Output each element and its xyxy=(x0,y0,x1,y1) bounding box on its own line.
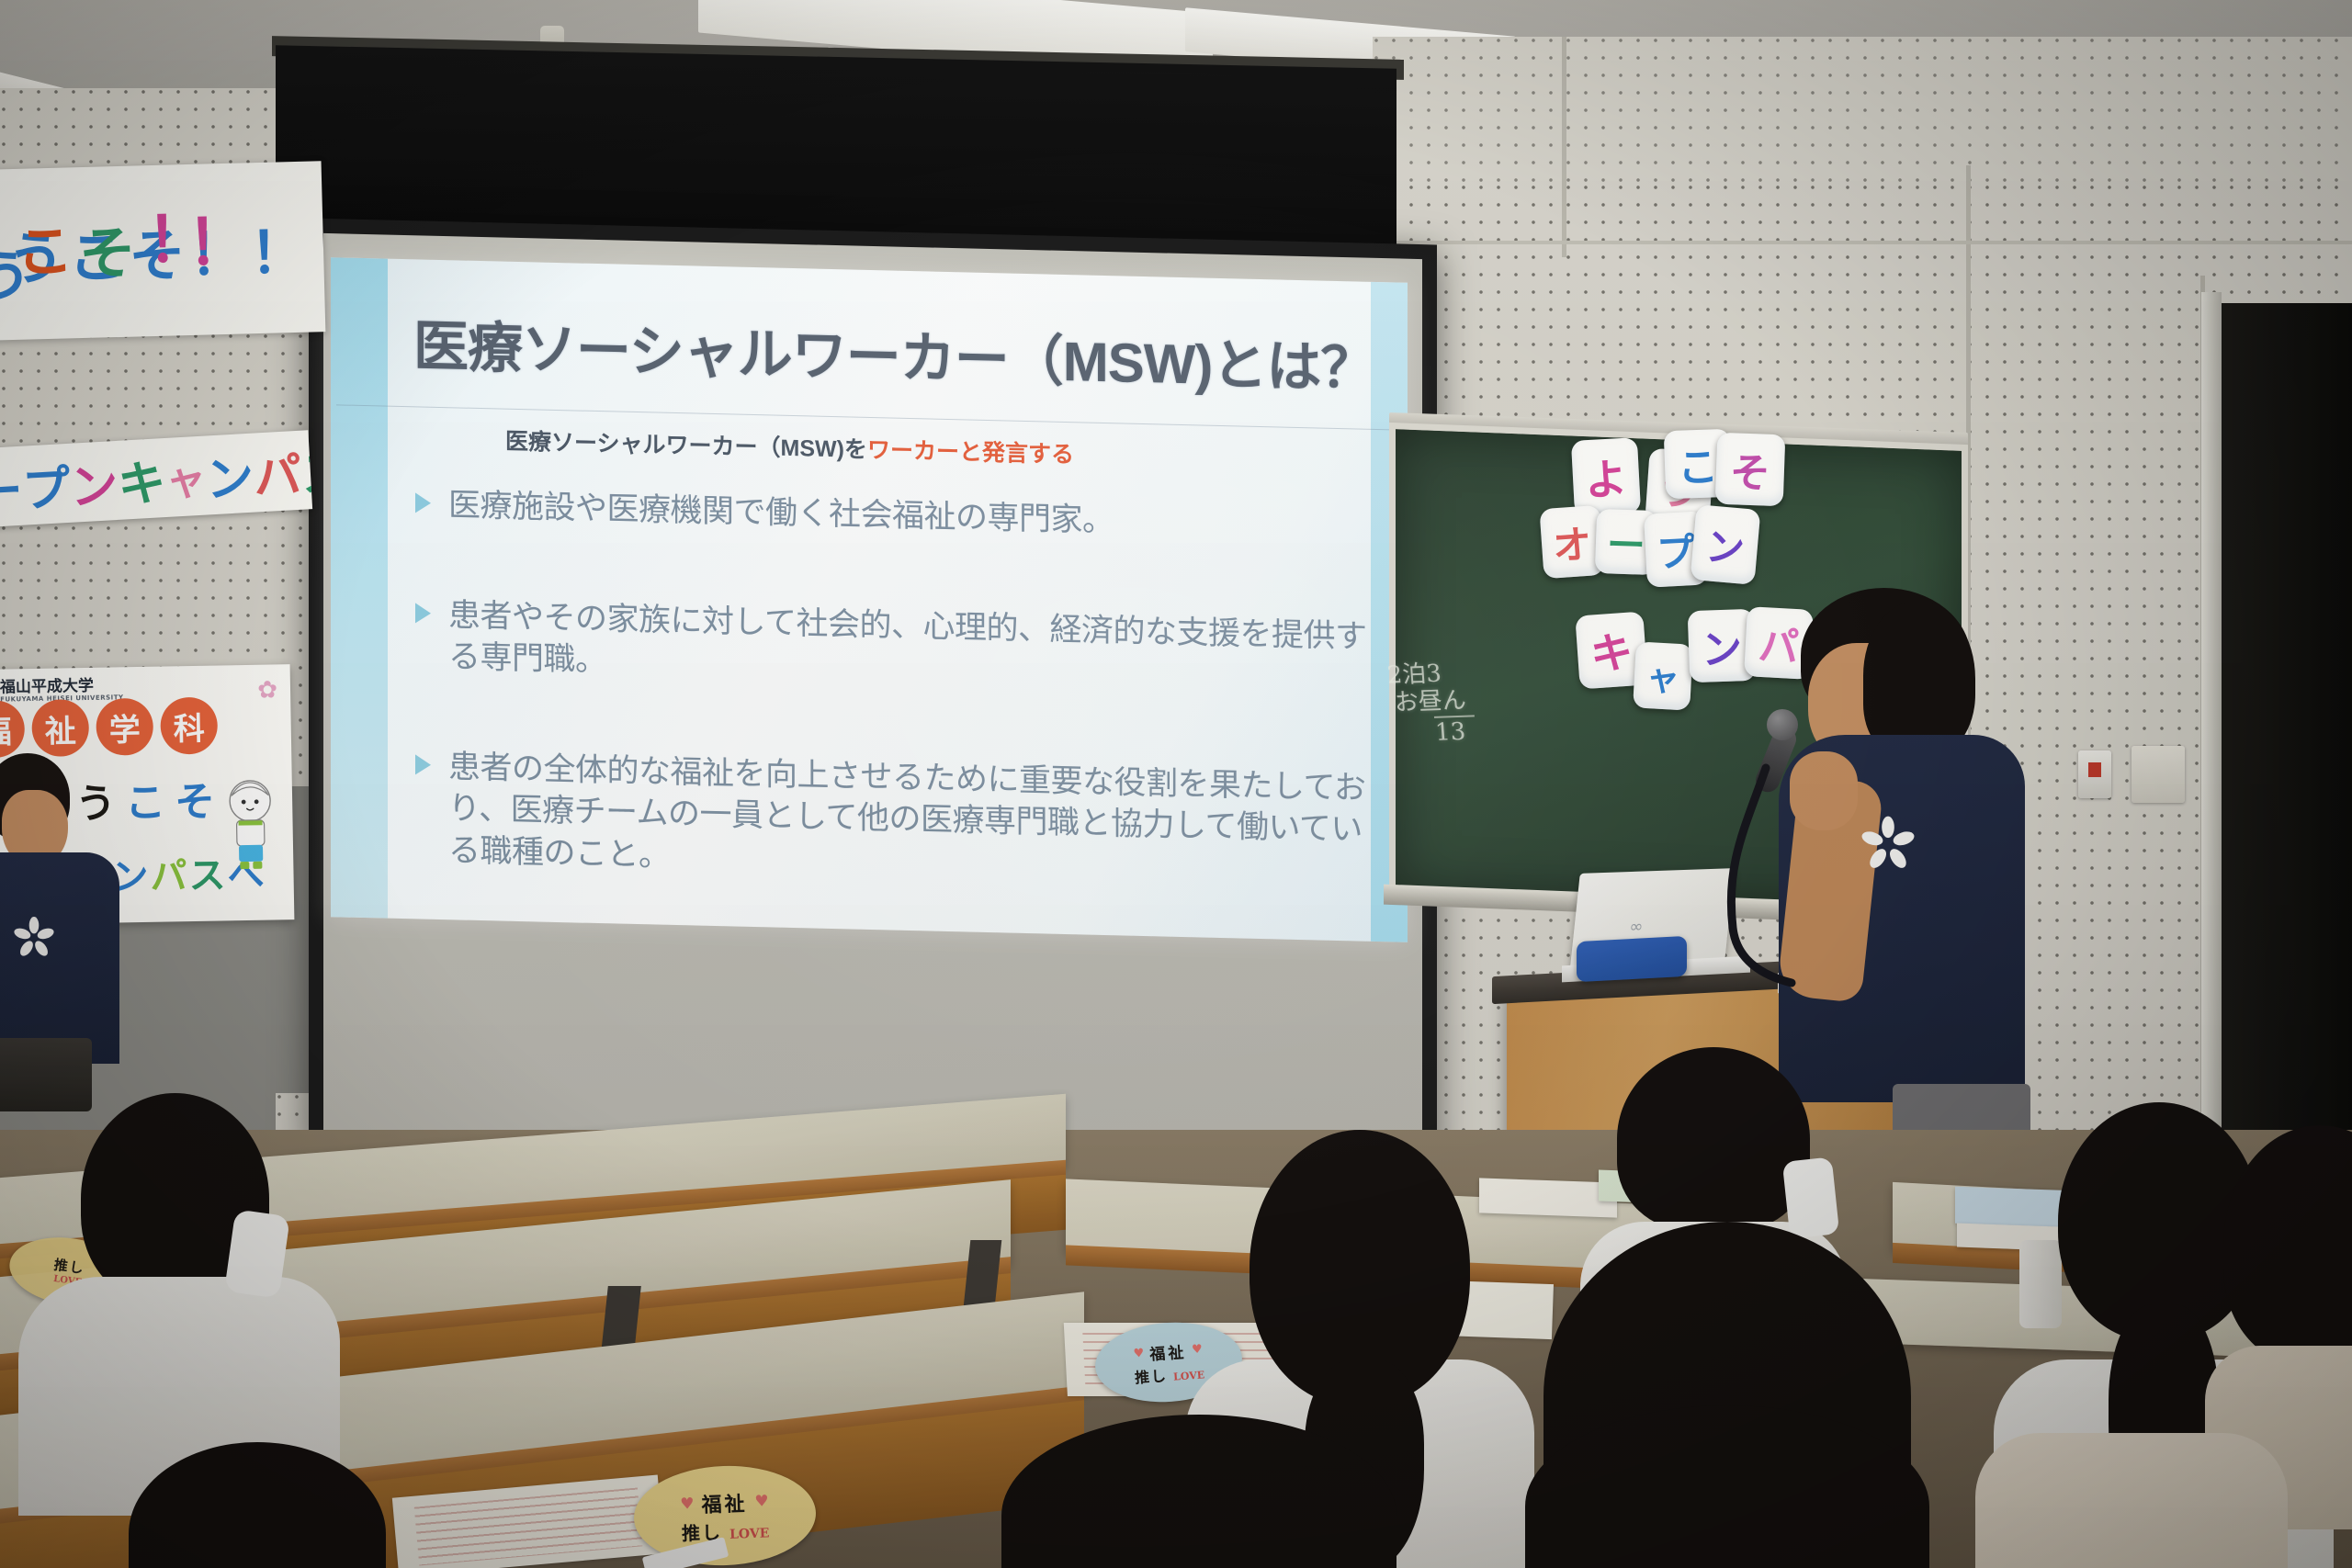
mascot-child-illustration xyxy=(213,776,288,878)
slide-subtitle: 医療ソーシャルワーカー（MSW)をワーカーと発言する xyxy=(505,423,1074,470)
poster-welcome-top: うこそ！！ xyxy=(0,161,325,341)
heart-icon-right: ♥ xyxy=(754,1492,769,1511)
blackboard-card-ya: ャ xyxy=(1633,641,1693,710)
microphone-head-icon xyxy=(1767,709,1798,740)
slide-bullet-2: 患者やその家族に対して社会的、心理的、経済的な支援を提供する専門職。 xyxy=(412,593,1382,700)
wall-seam-horizontal-1 xyxy=(1373,241,2352,244)
slide-bullet-2-text: 患者やその家族に対して社会的、心理的、経済的な支援を提供する専門職。 xyxy=(448,597,1366,679)
poster-dept-char-2: 学 xyxy=(96,698,153,756)
heart-icon-right: ♥ xyxy=(1192,1342,1204,1357)
slide-accent-band-left xyxy=(331,257,388,918)
sakura-icon: ✿ xyxy=(257,675,277,704)
blackboard-card-o: オ xyxy=(1539,505,1604,579)
heart-icon-left: ♥ xyxy=(680,1495,695,1514)
poster-dept-char-1: 祉 xyxy=(31,699,89,757)
audience-4-hair xyxy=(1617,1047,1810,1231)
chalk-line-3: 13 xyxy=(1434,715,1476,747)
presentation-slide: 医療ソーシャルワーカー（MSW)とは？ 医療ソーシャルワーカー（MSW)をワーカ… xyxy=(331,257,1408,942)
laptop-brand-logo: ∞ xyxy=(1628,917,1644,937)
audience-1-mask xyxy=(224,1209,290,1298)
audience-8-hair xyxy=(1001,1415,1396,1568)
fan-yellow-love: LOVE xyxy=(729,1526,770,1542)
heart-icon-left: ♥ xyxy=(1133,1346,1145,1360)
audience-student-8 xyxy=(1001,1415,1396,1568)
slide-bullet-list: 医療施設や医療機関で働く社会福祉の専門家。 患者やその家族に対して社会的、心理的… xyxy=(412,483,1382,893)
slide-bullet-1: 医療施設や医療機関で働く社会福祉の専門家。 xyxy=(412,483,1382,547)
audience-2-hair xyxy=(129,1442,386,1568)
poster-welcome-top-text: うこそ！！ xyxy=(6,206,311,297)
triangle-bullet-icon xyxy=(415,754,431,774)
lecture-hall-photo: 医療ソーシャルワーカー（MSW)とは？ 医療ソーシャルワーカー（MSW)をワーカ… xyxy=(0,0,2352,1568)
audience-7-hair xyxy=(2223,1125,2352,1364)
fan-yellow-line1: 福祉 xyxy=(701,1487,748,1518)
sakura-flower-logo xyxy=(13,917,55,959)
microphone-cable xyxy=(1681,762,1810,992)
audience-student-9 xyxy=(1525,1405,1929,1568)
thermostat-panel[interactable] xyxy=(2131,746,2185,803)
staff-member-left xyxy=(0,753,147,1056)
audience-student-2 xyxy=(129,1442,395,1568)
chalk-handwriting: 2泊3 お昼ん 13 xyxy=(1386,660,1476,749)
poster-department-circles: 福 祉 学 科 xyxy=(0,697,218,759)
audience-9-hair xyxy=(1525,1405,1929,1568)
fan-blue-love: LOVE xyxy=(1173,1369,1205,1382)
handout-text-lines xyxy=(414,1488,642,1566)
audience-student-10 xyxy=(1975,1433,2251,1568)
chalk-line-2: お昼ん xyxy=(1394,687,1475,717)
slide-title: 医療ソーシャルワーカー（MSW)とは？ xyxy=(413,301,1365,403)
blackboard-card-yo: よ xyxy=(1571,437,1641,516)
wall-seam-vertical-1 xyxy=(1562,37,1566,257)
slide-subtitle-plain: 医療ソーシャルワーカー（MSW)を xyxy=(505,429,867,463)
poster-dept-char-3: 科 xyxy=(160,697,218,755)
slide-bullet-1-text: 医療施設や医療機関で働く社会福祉の専門家。 xyxy=(448,487,1114,538)
slide-bullet-3-text: 患者の全体的な福祉を向上させるために重要な役割を果たしており、医療チームの一員と… xyxy=(448,749,1365,874)
slide-subtitle-highlight: ワーカーと発言する xyxy=(867,437,1074,468)
triangle-bullet-icon xyxy=(415,492,431,513)
slide-bullet-3: 患者の全体的な福祉を向上させるために重要な役割を果たしており、医療チームの一員と… xyxy=(412,745,1382,893)
fan-blue-line2: 推し xyxy=(1134,1363,1169,1387)
triangle-bullet-icon xyxy=(415,603,431,623)
blackboard-card-so: そ xyxy=(1715,433,1786,507)
audience-student-1 xyxy=(37,1093,340,1479)
blackboard-card-n: ン xyxy=(1690,504,1761,585)
audience-10-shoulder xyxy=(1975,1433,2288,1568)
poster-dept-char-0: 福 xyxy=(0,700,25,758)
presenter-hair-side xyxy=(1863,601,1975,757)
bluetooth-speaker xyxy=(1577,936,1687,982)
slide-title-divider xyxy=(336,404,1402,430)
light-switch-toggle[interactable] xyxy=(2088,762,2101,777)
fan-blue-line1: 福祉 xyxy=(1148,1338,1187,1364)
chalk-line-1: 2泊3 xyxy=(1386,660,1473,690)
presenter-sakura-logo xyxy=(1860,816,1917,873)
